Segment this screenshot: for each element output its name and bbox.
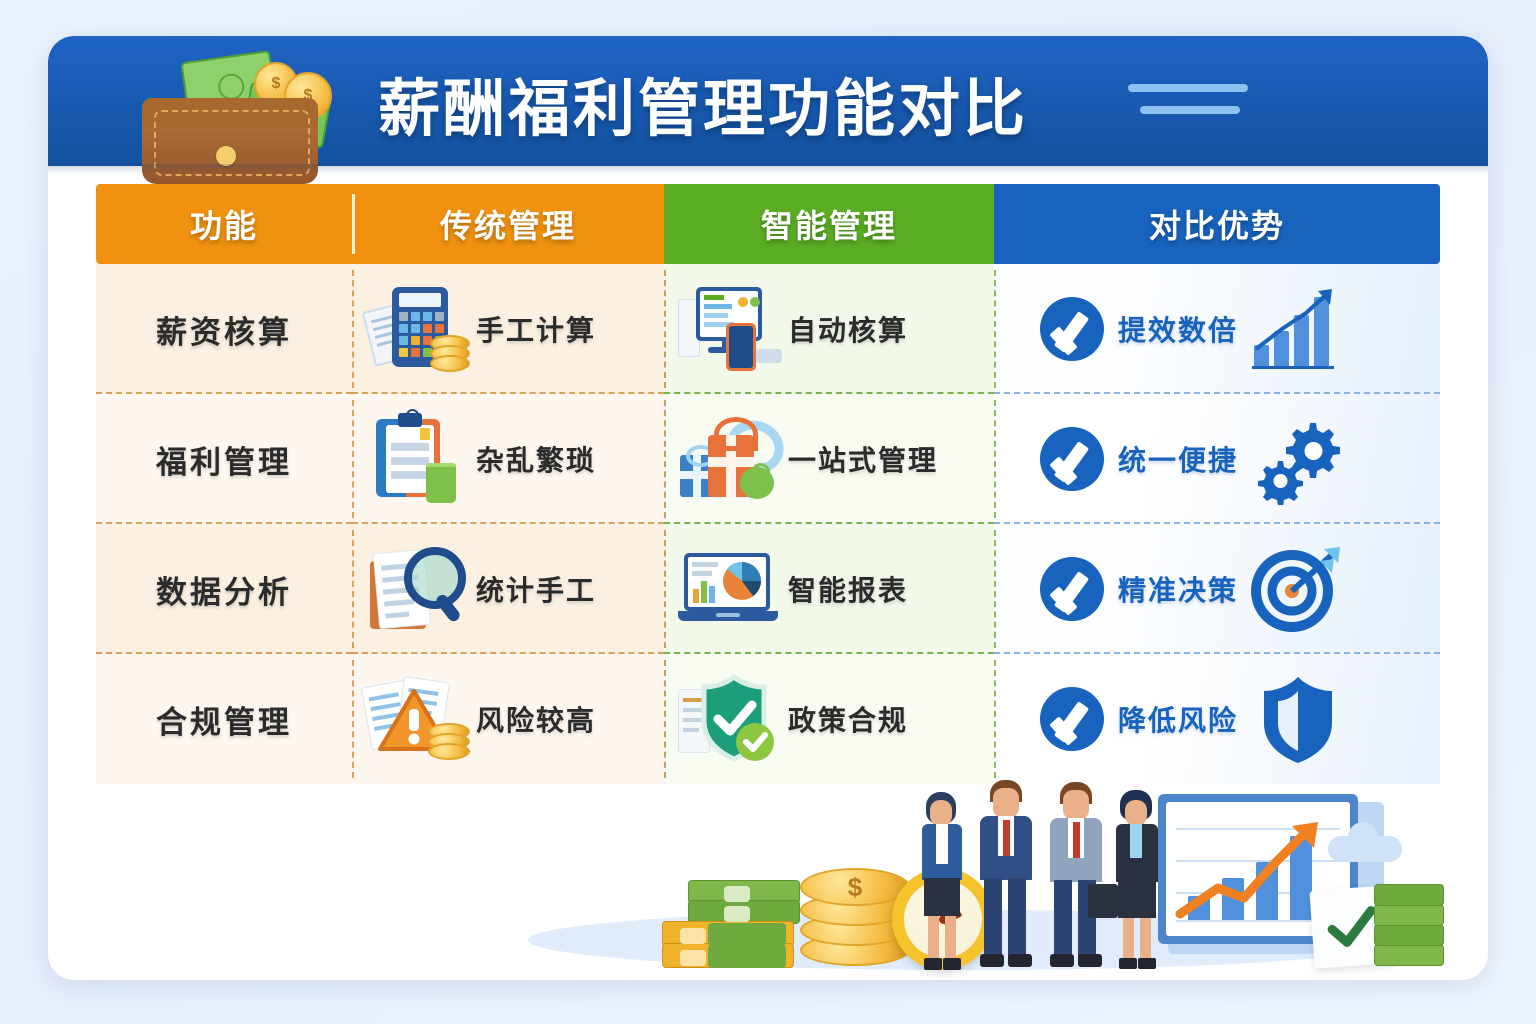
feature-label: 福利管理 [156, 437, 292, 482]
column-header-feature: 功能 [96, 184, 352, 264]
title-decoration-lines [1128, 84, 1248, 114]
magnifier-document-icon [366, 541, 470, 637]
content-card: $ $ 薪酬福利管理功能对比 功能 传统管理 智能管理 对比优势 薪资核算 [48, 36, 1488, 980]
cell-advantage: 提效数倍 [994, 264, 1440, 394]
check-circle-icon [1040, 427, 1104, 491]
check-circle-icon [1040, 297, 1104, 361]
check-circle-icon [1040, 557, 1104, 621]
cell-traditional: 风险较高 [352, 654, 664, 784]
cell-feature: 合规管理 [96, 654, 352, 784]
table-row: 合规管理 [96, 654, 1440, 784]
coin-dollar-symbol: $ [800, 868, 910, 906]
smart-label: 政策合规 [788, 699, 908, 739]
gift-boxes-icon [678, 411, 782, 507]
target-arrow-icon [1248, 543, 1348, 635]
page-title: 薪酬福利管理功能对比 [378, 58, 1028, 148]
traditional-label: 风险较高 [476, 699, 596, 739]
cell-advantage: 统一便捷 [994, 394, 1440, 524]
cell-traditional: 手工计算 [352, 264, 664, 394]
cell-traditional: 统计手工 [352, 524, 664, 654]
smart-label: 一站式管理 [788, 439, 938, 479]
table-row: 数据分析 统计手工 [96, 524, 1440, 654]
cell-smart: 政策合规 [664, 654, 994, 784]
advantage-label: 降低风险 [1118, 699, 1238, 739]
calculator-coins-icon [366, 281, 470, 377]
feature-label: 薪资核算 [156, 307, 292, 352]
table-header-row: 功能 传统管理 智能管理 对比优势 [96, 184, 1440, 264]
cell-feature: 薪资核算 [96, 264, 352, 394]
cell-smart: 智能报表 [664, 524, 994, 654]
laptop-piechart-icon [678, 541, 782, 637]
gears-icon [1248, 413, 1348, 505]
bar-chart-growth-icon [1248, 283, 1348, 375]
feature-label: 数据分析 [156, 567, 292, 612]
cell-feature: 数据分析 [96, 524, 352, 654]
advantage-label: 精准决策 [1118, 569, 1238, 609]
column-header-traditional: 传统管理 [352, 184, 664, 264]
cell-advantage: 降低风险 [994, 654, 1440, 784]
wallet-money-icon: $ $ [128, 54, 358, 194]
column-header-advantage: 对比优势 [994, 184, 1440, 264]
clipboard-icon [366, 411, 470, 507]
warning-coins-icon [366, 671, 470, 767]
infographic-canvas: $ $ 薪酬福利管理功能对比 功能 传统管理 智能管理 对比优势 薪资核算 [0, 0, 1536, 1024]
cell-smart: 一站式管理 [664, 394, 994, 524]
header-banner: $ $ 薪酬福利管理功能对比 [48, 36, 1488, 166]
cell-traditional: 杂乱繁琐 [352, 394, 664, 524]
cloud-icon [1328, 836, 1402, 862]
cell-advantage: 精准决策 [994, 524, 1440, 654]
feature-label: 合规管理 [156, 697, 292, 742]
table-row: 薪资核算 [96, 264, 1440, 394]
table-row: 福利管理 [96, 394, 1440, 524]
shield-check-icon [678, 671, 782, 767]
advantage-label: 提效数倍 [1118, 309, 1238, 349]
traditional-label: 统计手工 [476, 569, 596, 609]
comparison-table: 功能 传统管理 智能管理 对比优势 薪资核算 [96, 184, 1440, 784]
traditional-label: 手工计算 [476, 309, 596, 349]
footer-illustration: $ [48, 770, 1488, 980]
smart-label: 智能报表 [788, 569, 908, 609]
monitor-tablet-icon [678, 281, 782, 377]
traditional-label: 杂乱繁琐 [476, 439, 596, 479]
cell-smart: 自动核算 [664, 264, 994, 394]
check-circle-icon [1040, 687, 1104, 751]
smart-label: 自动核算 [788, 309, 908, 349]
blue-shield-icon [1248, 673, 1348, 765]
advantage-label: 统一便捷 [1118, 439, 1238, 479]
column-header-smart: 智能管理 [664, 184, 994, 264]
cell-feature: 福利管理 [96, 394, 352, 524]
